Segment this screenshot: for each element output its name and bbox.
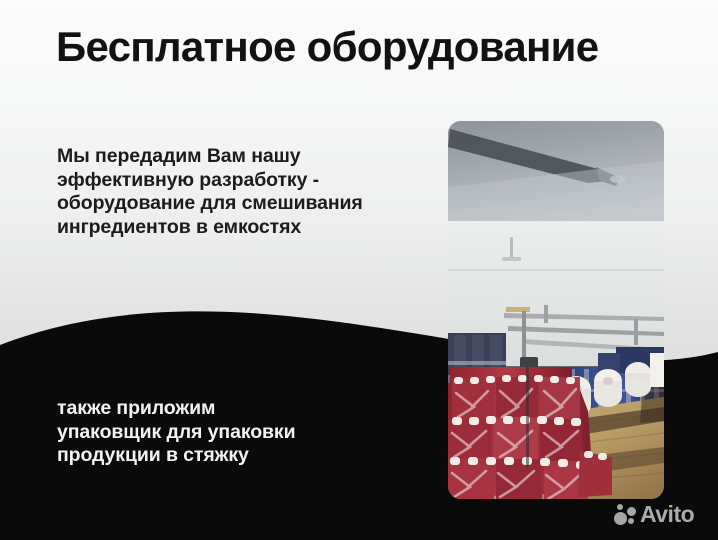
body-top-line-2: эффективную разработку - — [57, 169, 432, 193]
avito-watermark: Avito — [614, 503, 694, 526]
body-top-line-1: Мы передадим Вам нашу — [57, 145, 432, 169]
body-bottom-line-3: продукции в стяжку — [57, 444, 437, 468]
body-top-line-3: оборудование для смешивания — [57, 192, 432, 216]
body-bottom-line-1: также приложим — [57, 397, 437, 421]
body-text-top: Мы передадим Вам нашу эффективную разраб… — [57, 145, 432, 239]
body-bottom-line-2: упаковщик для упаковки — [57, 421, 437, 445]
avito-dots-icon — [614, 504, 636, 526]
body-text-bottom: также приложим упаковщик для упаковки пр… — [57, 397, 437, 468]
warehouse-photo — [448, 121, 664, 499]
body-top-line-4: ингредиентов в емкостях — [57, 216, 432, 240]
slide-canvas: Бесплатное оборудование Мы передадим Вам… — [0, 0, 718, 540]
page-title: Бесплатное оборудование — [56, 24, 696, 69]
avito-wordmark: Avito — [640, 503, 694, 526]
